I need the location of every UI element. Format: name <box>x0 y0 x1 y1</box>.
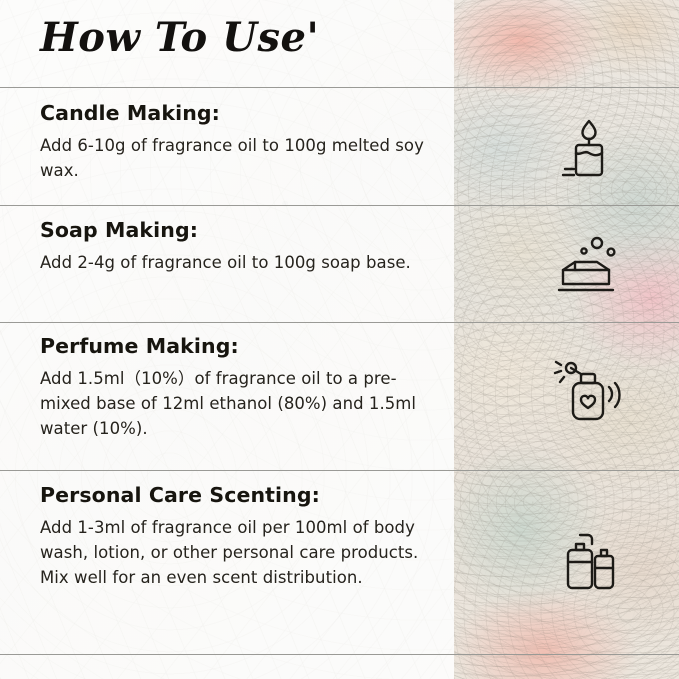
section-personal-care: Personal Care Scenting: Add 1-3ml of fra… <box>40 483 440 590</box>
divider-title <box>0 87 679 88</box>
section-body-perfume: Add 1.5ml（10%）of fragrance oil to a pre-… <box>40 367 440 441</box>
candle-icon <box>545 105 631 191</box>
how-to-use-infographic: How To Use' Candle Making: Add 6-10g of … <box>0 0 679 679</box>
page-title: How To Use' <box>40 14 440 61</box>
soap-bar-icon <box>545 222 631 308</box>
divider-perfume <box>0 470 679 471</box>
section-heading-personal-care: Personal Care Scenting: <box>40 483 440 507</box>
divider-soap <box>0 322 679 323</box>
section-soap-making: Soap Making: Add 2-4g of fragrance oil t… <box>40 218 440 276</box>
perfume-bottle-icon <box>545 350 631 436</box>
section-body-candle: Add 6-10g of fragrance oil to 100g melte… <box>40 134 440 184</box>
section-heading-soap: Soap Making: <box>40 218 440 242</box>
section-body-personal-care: Add 1-3ml of fragrance oil per 100ml of … <box>40 516 440 590</box>
section-body-soap: Add 2-4g of fragrance oil to 100g soap b… <box>40 251 440 276</box>
section-candle-making: Candle Making: Add 6-10g of fragrance oi… <box>40 101 440 184</box>
divider-personal-care <box>0 654 679 655</box>
section-heading-perfume: Perfume Making: <box>40 334 440 358</box>
page-title-wrap: How To Use' <box>40 14 440 80</box>
lotion-bottles-icon <box>545 520 631 606</box>
section-heading-candle: Candle Making: <box>40 101 440 125</box>
section-perfume-making: Perfume Making: Add 1.5ml（10%）of fragran… <box>40 334 440 441</box>
content-layer: How To Use' Candle Making: Add 6-10g of … <box>0 0 679 679</box>
divider-candle <box>0 205 679 206</box>
